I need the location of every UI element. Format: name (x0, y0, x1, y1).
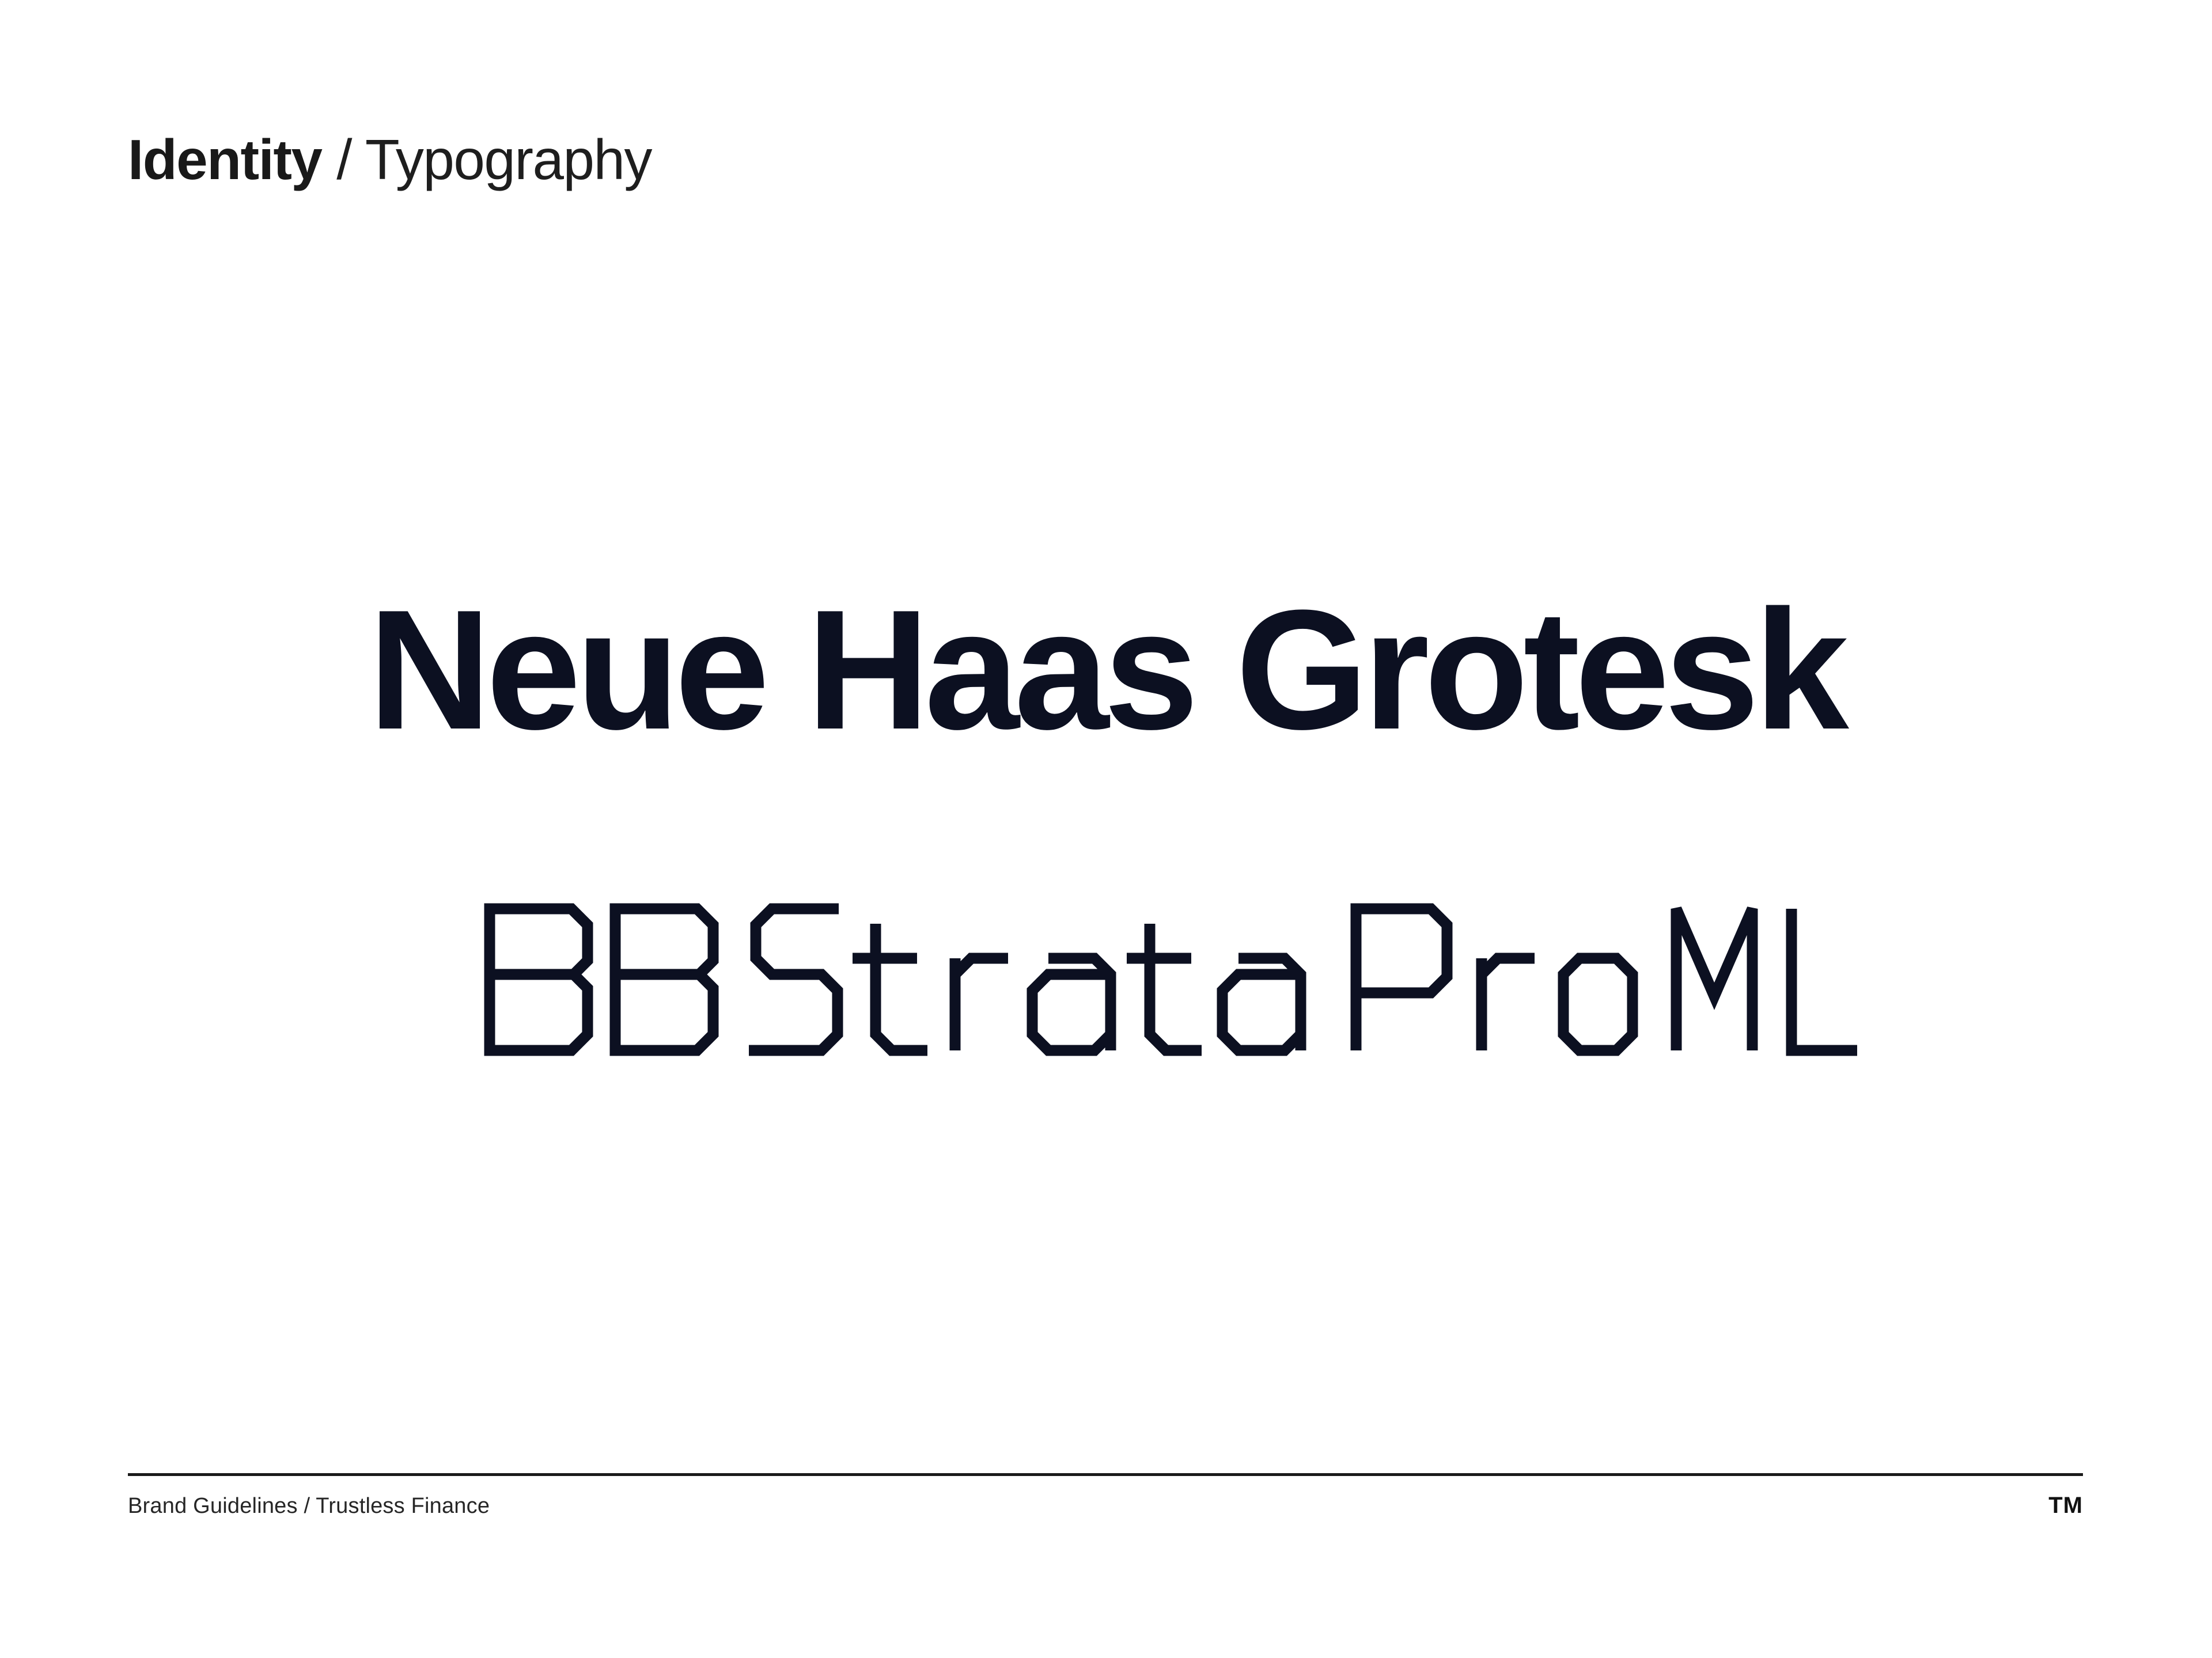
breadcrumb: Identity / Typography (128, 131, 652, 188)
breadcrumb-section: Identity (128, 128, 321, 191)
footer-divider (128, 1473, 2083, 1476)
typeface-specimen-list: Neue Haas Grotesk BB Strata Pro ML (0, 0, 2212, 1658)
footer-caption: Brand Guidelines / Trustless Finance (128, 1494, 490, 1519)
breadcrumb-separator: / (321, 128, 365, 191)
specimen-secondary-typeface: BB Strata Pro ML (0, 896, 2212, 1069)
typography-slide: Identity / Typography Neue Haas Grotesk … (0, 0, 2212, 1658)
trademark-mark: TM (2048, 1493, 2083, 1519)
footer: Brand Guidelines / Trustless Finance TM (128, 1493, 2083, 1519)
specimen-primary-typeface: Neue Haas Grotesk (0, 585, 2212, 755)
bb-strata-wordmark: BB Strata Pro ML (472, 896, 1740, 1069)
breadcrumb-subsection: Typography (365, 128, 652, 191)
